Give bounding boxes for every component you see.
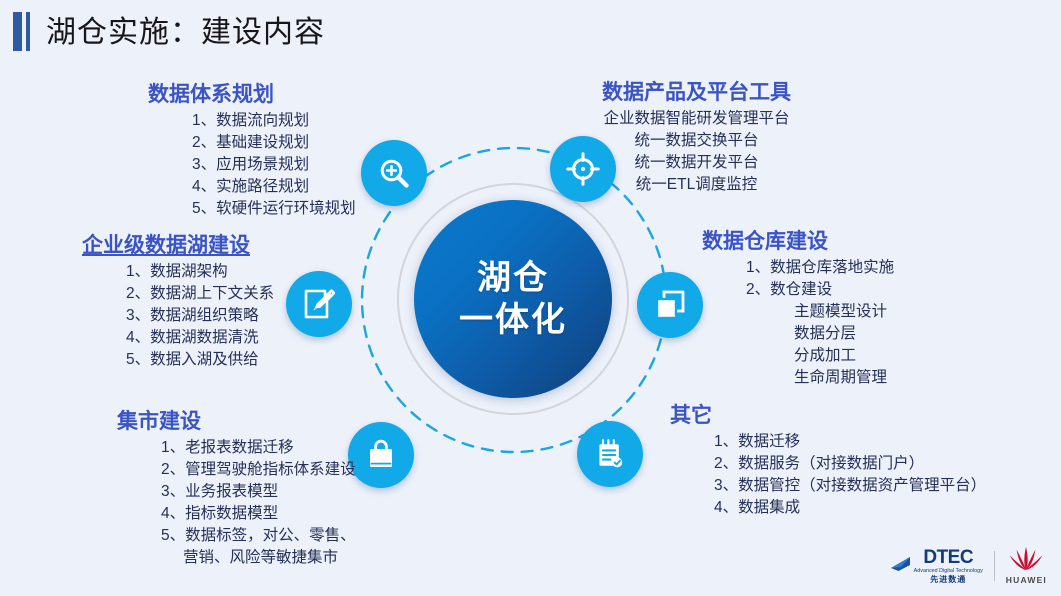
block-title: 其它 [670,403,986,428]
block-line: 3、数据湖组织策略 [82,305,274,327]
slide-canvas: 湖仓实施：建设内容 湖仓 一体化 [0,0,1061,596]
block-line: 5、软硬件运行环境规划 [148,198,356,220]
dtec-text: DTEC Advanced Digital Technology 先进数通 [914,548,983,584]
shopping-bag-icon [365,439,397,471]
block-data-lake: 企业级数据湖建设 1、数据湖架构 2、数据湖上下文关系 3、数据湖组织策略 4、… [82,233,274,371]
dtec-wordmark: DTEC [923,548,973,567]
block-line: 4、数据湖数据清洗 [82,327,274,349]
block-line: 4、数据集成 [670,497,986,519]
block-line: 1、数据迁移 [670,431,986,453]
block-line: 5、数据入湖及供给 [82,349,274,371]
node-others[interactable] [577,421,643,487]
node-data-system[interactable] [361,140,427,206]
block-title: 数据体系规划 [148,82,356,107]
block-line: 3、业务报表模型 [117,481,356,503]
checklist-note-icon [594,438,626,470]
zoom-in-icon [377,156,411,190]
block-title: 集市建设 [117,409,356,434]
logo-divider [994,551,995,581]
block-data-system: 数据体系规划 1、数据流向规划 2、基础建设规划 3、应用场景规划 4、实施路径… [148,82,356,220]
block-line: 1、老报表数据迁移 [117,437,356,459]
huawei-logo: HUAWEI [1006,547,1047,585]
block-line: 2、数仓建设 [702,279,894,301]
block-line: 3、数据管控（对接数据资产管理平台） [670,475,986,497]
block-line: 生命周期管理 [702,367,894,389]
block-line: 1、数据仓库落地实施 [702,257,894,279]
block-line: 2、数据服务（对接数据门户） [670,453,986,475]
center-circle: 湖仓 一体化 [414,200,612,398]
block-line: 2、管理驾驶舱指标体系建设 [117,459,356,481]
copy-layers-icon [654,289,686,321]
block-title: 数据产品及平台工具 [602,80,791,105]
block-line: 3、应用场景规划 [148,154,356,176]
node-market[interactable] [348,422,414,488]
block-title: 企业级数据湖建设 [82,233,274,258]
block-data-product: 数据产品及平台工具 企业数据智能研发管理平台 统一数据交换平台 统一数据开发平台… [602,80,791,196]
block-line: 5、数据标签，对公、零售、 [117,525,356,547]
huawei-wordmark: HUAWEI [1006,576,1047,585]
block-line: 主题模型设计 [702,301,894,323]
block-market: 集市建设 1、老报表数据迁移 2、管理驾驶舱指标体系建设 3、业务报表模型 4、… [117,409,356,569]
block-title: 数据仓库建设 [702,229,894,254]
block-line: 2、数据湖上下文关系 [82,283,274,305]
slide-header: 湖仓实施：建设内容 [0,0,1061,62]
dtec-arrow-icon [890,556,912,577]
block-line: 1、数据流向规划 [148,110,356,132]
block-others: 其它 1、数据迁移 2、数据服务（对接数据门户） 3、数据管控（对接数据资产管理… [670,403,986,519]
footer-logos: DTEC Advanced Digital Technology 先进数通 [890,544,1047,588]
center-label-line-2: 一体化 [459,299,567,342]
block-line: 分成加工 [702,345,894,367]
node-data-lake[interactable] [286,271,352,337]
dtec-logo: DTEC Advanced Digital Technology 先进数通 [890,548,983,584]
dtec-chinese-name: 先进数通 [930,576,966,584]
edit-square-icon [303,288,335,320]
block-line: 4、实施路径规划 [148,176,356,198]
block-line: 数据分层 [702,323,894,345]
page-title: 湖仓实施：建设内容 [46,7,325,51]
block-line: 统一数据开发平台 [602,152,791,174]
block-line: 企业数据智能研发管理平台 [602,108,791,130]
title-accent-bar-thick [13,12,22,51]
block-line: 营销、风险等敏捷集市 [117,547,356,569]
block-data-warehouse: 数据仓库建设 1、数据仓库落地实施 2、数仓建设 主题模型设计 数据分层 分成加… [702,229,894,389]
title-accent-bar-thin [26,12,30,51]
huawei-flower-icon [1009,547,1043,574]
block-line: 统一数据交换平台 [602,130,791,152]
block-line: 1、数据湖架构 [82,261,274,283]
dtec-tagline: Advanced Digital Technology [914,569,983,574]
target-icon [566,152,600,186]
center-label-line-1: 湖仓 [477,257,549,300]
block-line: 4、指标数据模型 [117,503,356,525]
block-line: 统一ETL调度监控 [602,174,791,196]
block-line: 2、基础建设规划 [148,132,356,154]
node-data-warehouse[interactable] [637,272,703,338]
